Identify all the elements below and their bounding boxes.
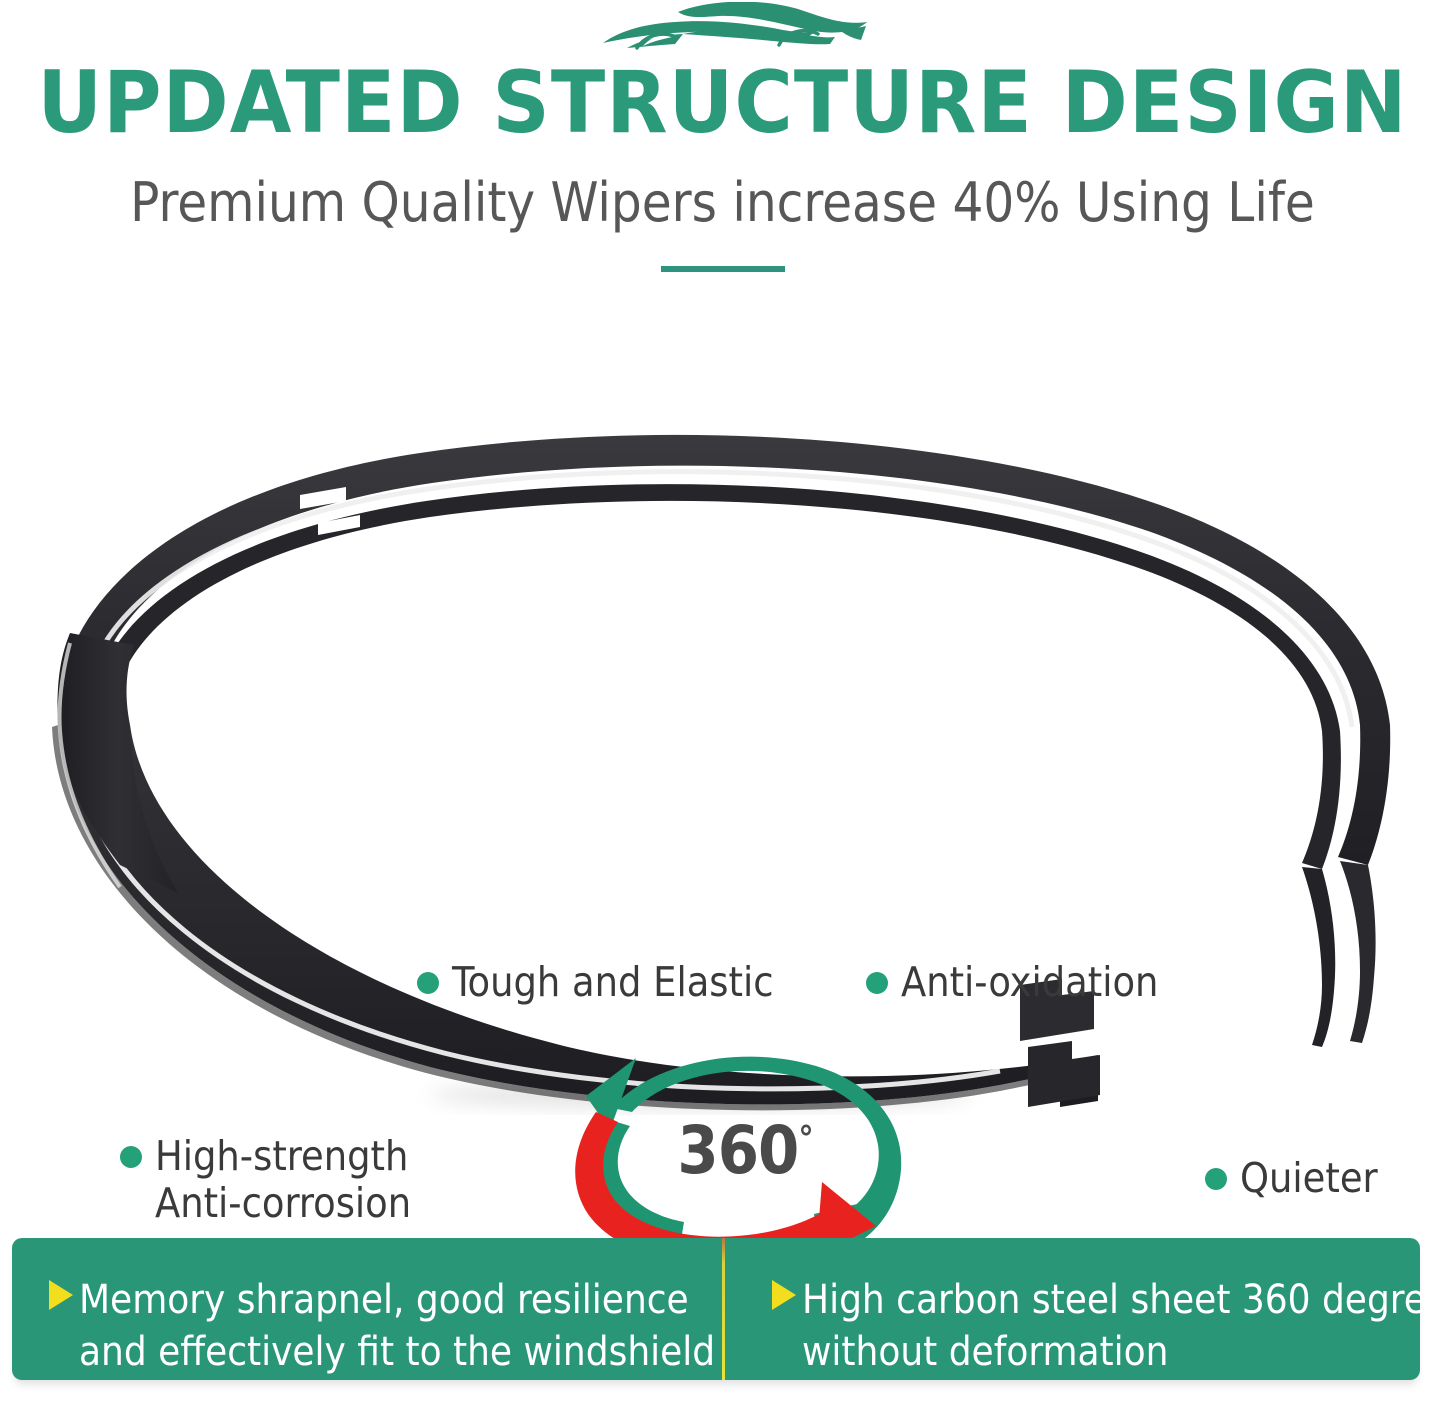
banner-panel-memory-shrapnel: Memory shrapnel, good resilience and eff… xyxy=(49,1274,715,1378)
feature-label-text-block: High-strength Anti-corrosion xyxy=(155,1133,411,1227)
banner-line1: Memory shrapnel, good resilience xyxy=(79,1277,689,1323)
badge-360-label: 360° xyxy=(570,1112,920,1189)
feature-label-line1: High-strength xyxy=(155,1132,408,1180)
bullet-dot-icon xyxy=(1205,1168,1227,1190)
bullet-dot-icon xyxy=(866,972,888,994)
feature-label-text: Anti-oxidation xyxy=(901,959,1158,1006)
bottom-feature-banner: Memory shrapnel, good resilience and eff… xyxy=(12,1238,1420,1380)
triangle-bullet-icon xyxy=(772,1280,796,1310)
page-subtitle: Premium Quality Wipers increase 40% Usin… xyxy=(0,172,1445,234)
feature-label-text: Tough and Elastic xyxy=(452,959,774,1006)
feature-label-line2: Anti-corrosion xyxy=(155,1180,411,1227)
banner-line2: without deformation xyxy=(802,1326,1445,1378)
feature-label-anti-oxidation: Anti-oxidation xyxy=(866,959,1158,1006)
badge-360-value: 360 xyxy=(677,1112,798,1189)
feature-label-tough-and-elastic: Tough and Elastic xyxy=(417,959,774,1006)
bullet-dot-icon xyxy=(120,1146,142,1168)
title-divider xyxy=(661,266,785,272)
car-silhouette-icon xyxy=(583,2,883,60)
badge-360: 360° xyxy=(570,1050,920,1265)
bullet-dot-icon xyxy=(417,972,439,994)
banner-text-block: High carbon steel sheet 360 degrees with… xyxy=(802,1274,1445,1378)
feature-label-high-strength-anti-corrosion: High-strength Anti-corrosion xyxy=(120,1133,411,1227)
degree-symbol: ° xyxy=(798,1119,812,1159)
infographic-page: UPDATED STRUCTURE DESIGN Premium Quality… xyxy=(0,0,1445,1421)
product-image: 360° Tough and Elastic Anti-oxidation Hi… xyxy=(0,395,1445,1155)
banner-divider xyxy=(722,1238,725,1380)
banner-panel-high-carbon-steel: High carbon steel sheet 360 degrees with… xyxy=(772,1274,1445,1378)
banner-line1: High carbon steel sheet 360 degrees xyxy=(802,1277,1445,1323)
banner-text-block: Memory shrapnel, good resilience and eff… xyxy=(79,1274,715,1378)
page-title: UPDATED STRUCTURE DESIGN xyxy=(0,55,1445,151)
triangle-bullet-icon xyxy=(49,1280,73,1310)
feature-label-text: Quieter xyxy=(1240,1155,1378,1202)
feature-label-quieter: Quieter xyxy=(1205,1155,1378,1202)
banner-line2: and effectively fit to the windshield xyxy=(79,1326,715,1378)
